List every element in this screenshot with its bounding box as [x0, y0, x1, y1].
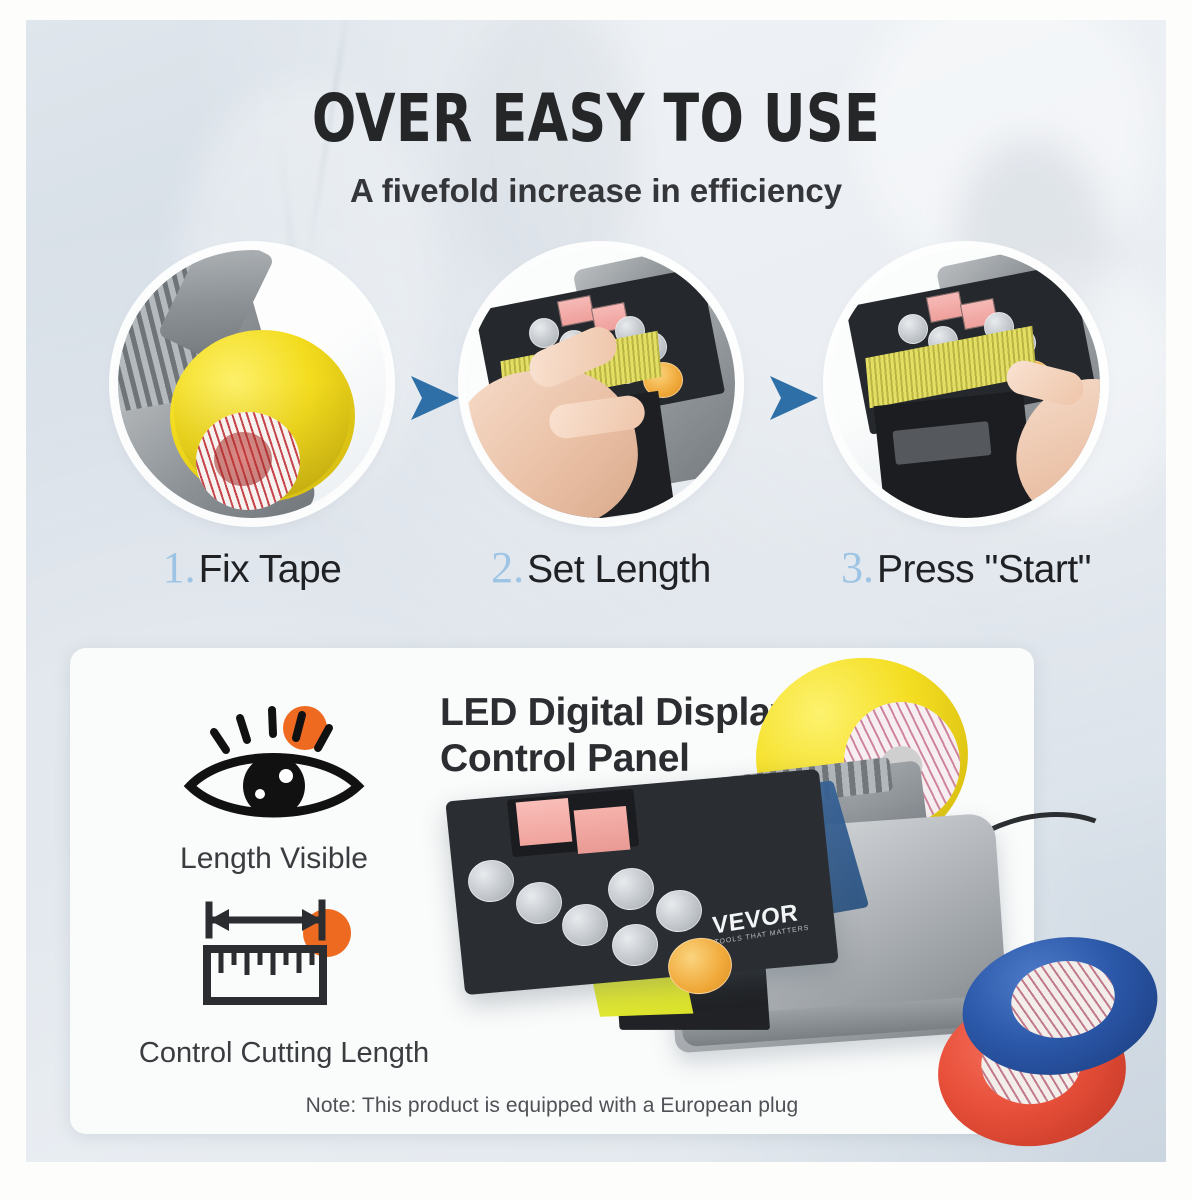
step-2-label: Set Length — [527, 548, 711, 591]
feature-length-visible: Length Visible — [134, 698, 414, 876]
feature-1-label: Length Visible — [134, 842, 414, 876]
arrow-step2-to-step3 — [764, 370, 824, 426]
product-photo-tape-dispenser: VEVOR TOOLS THAT MATTERS — [446, 720, 1086, 1150]
eye-icon — [174, 698, 374, 828]
step-3-photo — [832, 250, 1100, 518]
step-2-caption: 2.Set Length — [451, 542, 751, 593]
steps-row: 1.Fix Tape — [26, 250, 1166, 610]
ruler-icon — [179, 893, 389, 1023]
step-1-photo — [118, 250, 386, 518]
step-1-number: 1. — [163, 543, 196, 592]
product-marketing-image: OVER EASY TO USE A fivefold increase in … — [0, 0, 1192, 1200]
chevron-right-icon — [764, 370, 824, 426]
led-display-1 — [516, 798, 573, 846]
step-1-caption: 1.Fix Tape — [102, 542, 402, 593]
feature-control-cutting-length: Control Cutting Length — [134, 893, 434, 1070]
step-3-label: Press "Start" — [877, 548, 1091, 591]
led-display-2 — [574, 806, 631, 854]
step-3: 3.Press "Start" — [816, 250, 1116, 593]
step-3-number: 3. — [841, 543, 874, 592]
step-3-caption: 3.Press "Start" — [816, 542, 1116, 593]
step-1-label: Fix Tape — [199, 548, 342, 591]
page-title: OVER EASY TO USE — [94, 80, 1097, 157]
photo-plate: OVER EASY TO USE A fivefold increase in … — [26, 20, 1166, 1162]
step-2-photo — [467, 250, 735, 518]
page-subtitle: A fivefold increase in efficiency — [26, 172, 1166, 210]
step-2: 2.Set Length — [451, 250, 751, 593]
feature-2-label: Control Cutting Length — [134, 1037, 434, 1070]
step-2-number: 2. — [491, 543, 524, 592]
step-1: 1.Fix Tape — [102, 250, 402, 593]
